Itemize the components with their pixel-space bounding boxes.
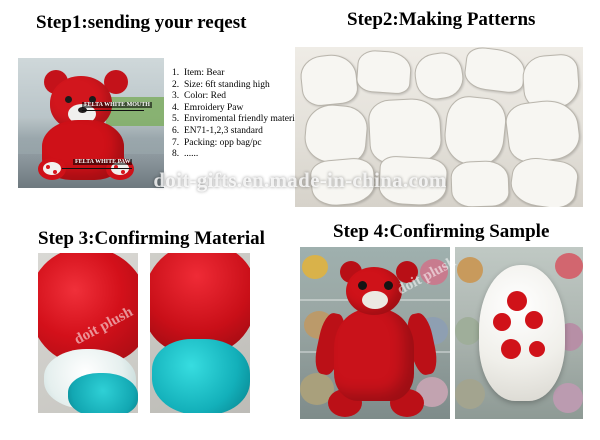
spec-text: Packing: opp bag/pc (184, 138, 262, 148)
teal-fur-swatch (68, 373, 138, 413)
bear-paw-closeup (479, 265, 565, 401)
background-toy (302, 255, 328, 279)
step3-fabric-photo-left (38, 253, 138, 413)
spec-number: 3. (172, 91, 184, 103)
bear-eye-left (65, 96, 72, 103)
step3-fabric-photo-right (150, 253, 250, 413)
callout-label-mouth: FELTA WHITE MOUTH (82, 102, 152, 108)
bear-body (334, 309, 414, 401)
spec-text: Color: Red (184, 91, 226, 101)
pattern-piece (367, 97, 442, 165)
pattern-piece (356, 49, 413, 95)
background-toy (555, 253, 583, 279)
spec-number: 5. (172, 114, 184, 126)
spec-number: 4. (172, 103, 184, 115)
callout-line-mouth (82, 110, 144, 111)
spec-text: Item: Bear (184, 68, 224, 78)
spec-number: 6. (172, 126, 184, 138)
background-toy (457, 257, 483, 283)
spec-text: Enviromental friendly material (184, 114, 302, 124)
background-toy (420, 259, 448, 285)
bear-eye-right (384, 281, 393, 290)
pawpad-dot (53, 170, 57, 174)
step4-heading: Step 4:Confirming Sample (333, 221, 549, 243)
paw-red-dot (529, 341, 545, 357)
spec-number: 8. (172, 149, 184, 161)
step4-sample-photo-right (455, 247, 583, 419)
paw-red-dot (501, 339, 521, 359)
spec-text: Emroidery Paw (184, 103, 243, 113)
bear-eye-left (358, 281, 367, 290)
callout-label-paw: FELTA WHITE PAW (73, 159, 132, 165)
spec-text: ...... (184, 149, 198, 159)
paw-red-dot (507, 291, 527, 311)
document-page: Step1:sending your reqest FELTA WHITE MO… (0, 0, 600, 440)
step3-heading: Step 3:Confirming Material (38, 228, 265, 250)
spec-number: 7. (172, 138, 184, 150)
spec-text: Size: 6ft standing high (184, 80, 270, 90)
pawpad-dot (121, 170, 125, 174)
bear-muzzle (362, 291, 388, 309)
callout-line-paw (62, 168, 132, 169)
teal-fur-swatch (152, 339, 250, 413)
step4-sample-photo-left (300, 247, 450, 419)
pattern-piece (378, 155, 448, 206)
pattern-piece (450, 160, 510, 207)
spec-text: EN71-1,2,3 standard (184, 126, 263, 136)
pawpad-dot (46, 165, 50, 169)
bear-ear-right (396, 261, 418, 283)
pattern-piece (303, 102, 370, 165)
spec-number: 1. (172, 68, 184, 80)
step2-patterns-photo (295, 47, 583, 207)
paw-red-dot (493, 313, 511, 331)
paw-red-dot (525, 311, 543, 329)
spec-number: 2. (172, 80, 184, 92)
step1-bear-photo: FELTA WHITE MOUTH FELTA WHITE PAW (18, 58, 164, 188)
background-toy (553, 383, 583, 413)
step2-heading: Step2:Making Patterns (347, 9, 535, 31)
background-toy (455, 379, 485, 409)
step1-heading: Step1:sending your reqest (36, 12, 246, 34)
background-toy (455, 317, 481, 345)
